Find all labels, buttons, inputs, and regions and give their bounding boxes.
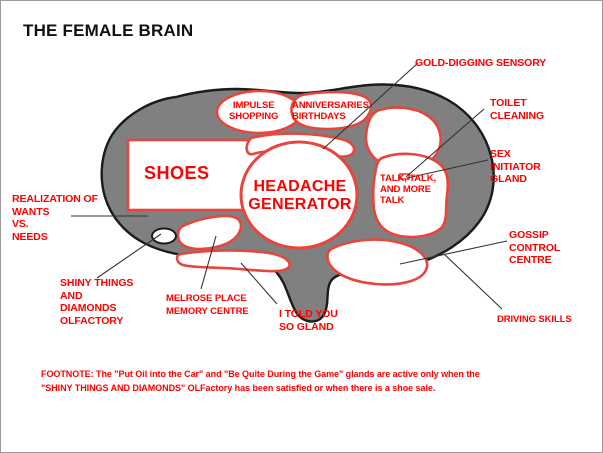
callout-realization-of-wants-vs-needs: REALIZATION OF WANTS VS. NEEDS: [12, 193, 98, 243]
callout-sex-initiator-gland: SEX INITIATOR GLAND: [490, 148, 541, 186]
region-label-talk-talk-and-more-talk: TALK, TALK, AND MORE TALK: [380, 173, 436, 206]
region-i-told-you-so-gland: [177, 250, 290, 271]
leader-driving-skills: [444, 254, 502, 309]
callout-driving-skills: DRIVING SKILLS: [497, 314, 572, 327]
female-brain-diagram: THE FEMALE BRAIN: [0, 0, 603, 453]
region-label-impulse-shopping: IMPULSE SHOPPING: [229, 100, 278, 122]
region-label-anniversaries-birthdays: ANNIVERSARIES BIRTHDAYS: [292, 100, 369, 122]
callout-melrose-place-memory-centre: MELROSE PLACE MEMORY CENTRE: [166, 293, 249, 318]
region-gossip-control-centre: [327, 240, 427, 285]
leader-shiny-things: [97, 234, 161, 278]
callout-i-told-you-so-gland: I TOLD YOU SO GLAND: [279, 308, 338, 333]
callout-gossip-control-centre: GOSSIP CONTROL CENTRE: [509, 229, 560, 267]
footnote-text: FOOTNOTE: The "Put Oil into the Car" and…: [41, 367, 571, 395]
callout-shiny-things-and-diamonds-olfactory: SHINY THINGS AND DIAMONDS OLFACTORY: [60, 277, 133, 327]
callout-toilet-cleaning: TOILET CLEANING: [490, 97, 544, 122]
region-label-shoes: SHOES: [144, 163, 210, 183]
region-shiny-things-olfactory: [152, 229, 176, 244]
callout-gold-digging-sensory: GOLD-DIGGING SENSORY: [415, 57, 546, 70]
region-label-headache-generator: HEADACHE GENERATOR: [241, 178, 359, 214]
